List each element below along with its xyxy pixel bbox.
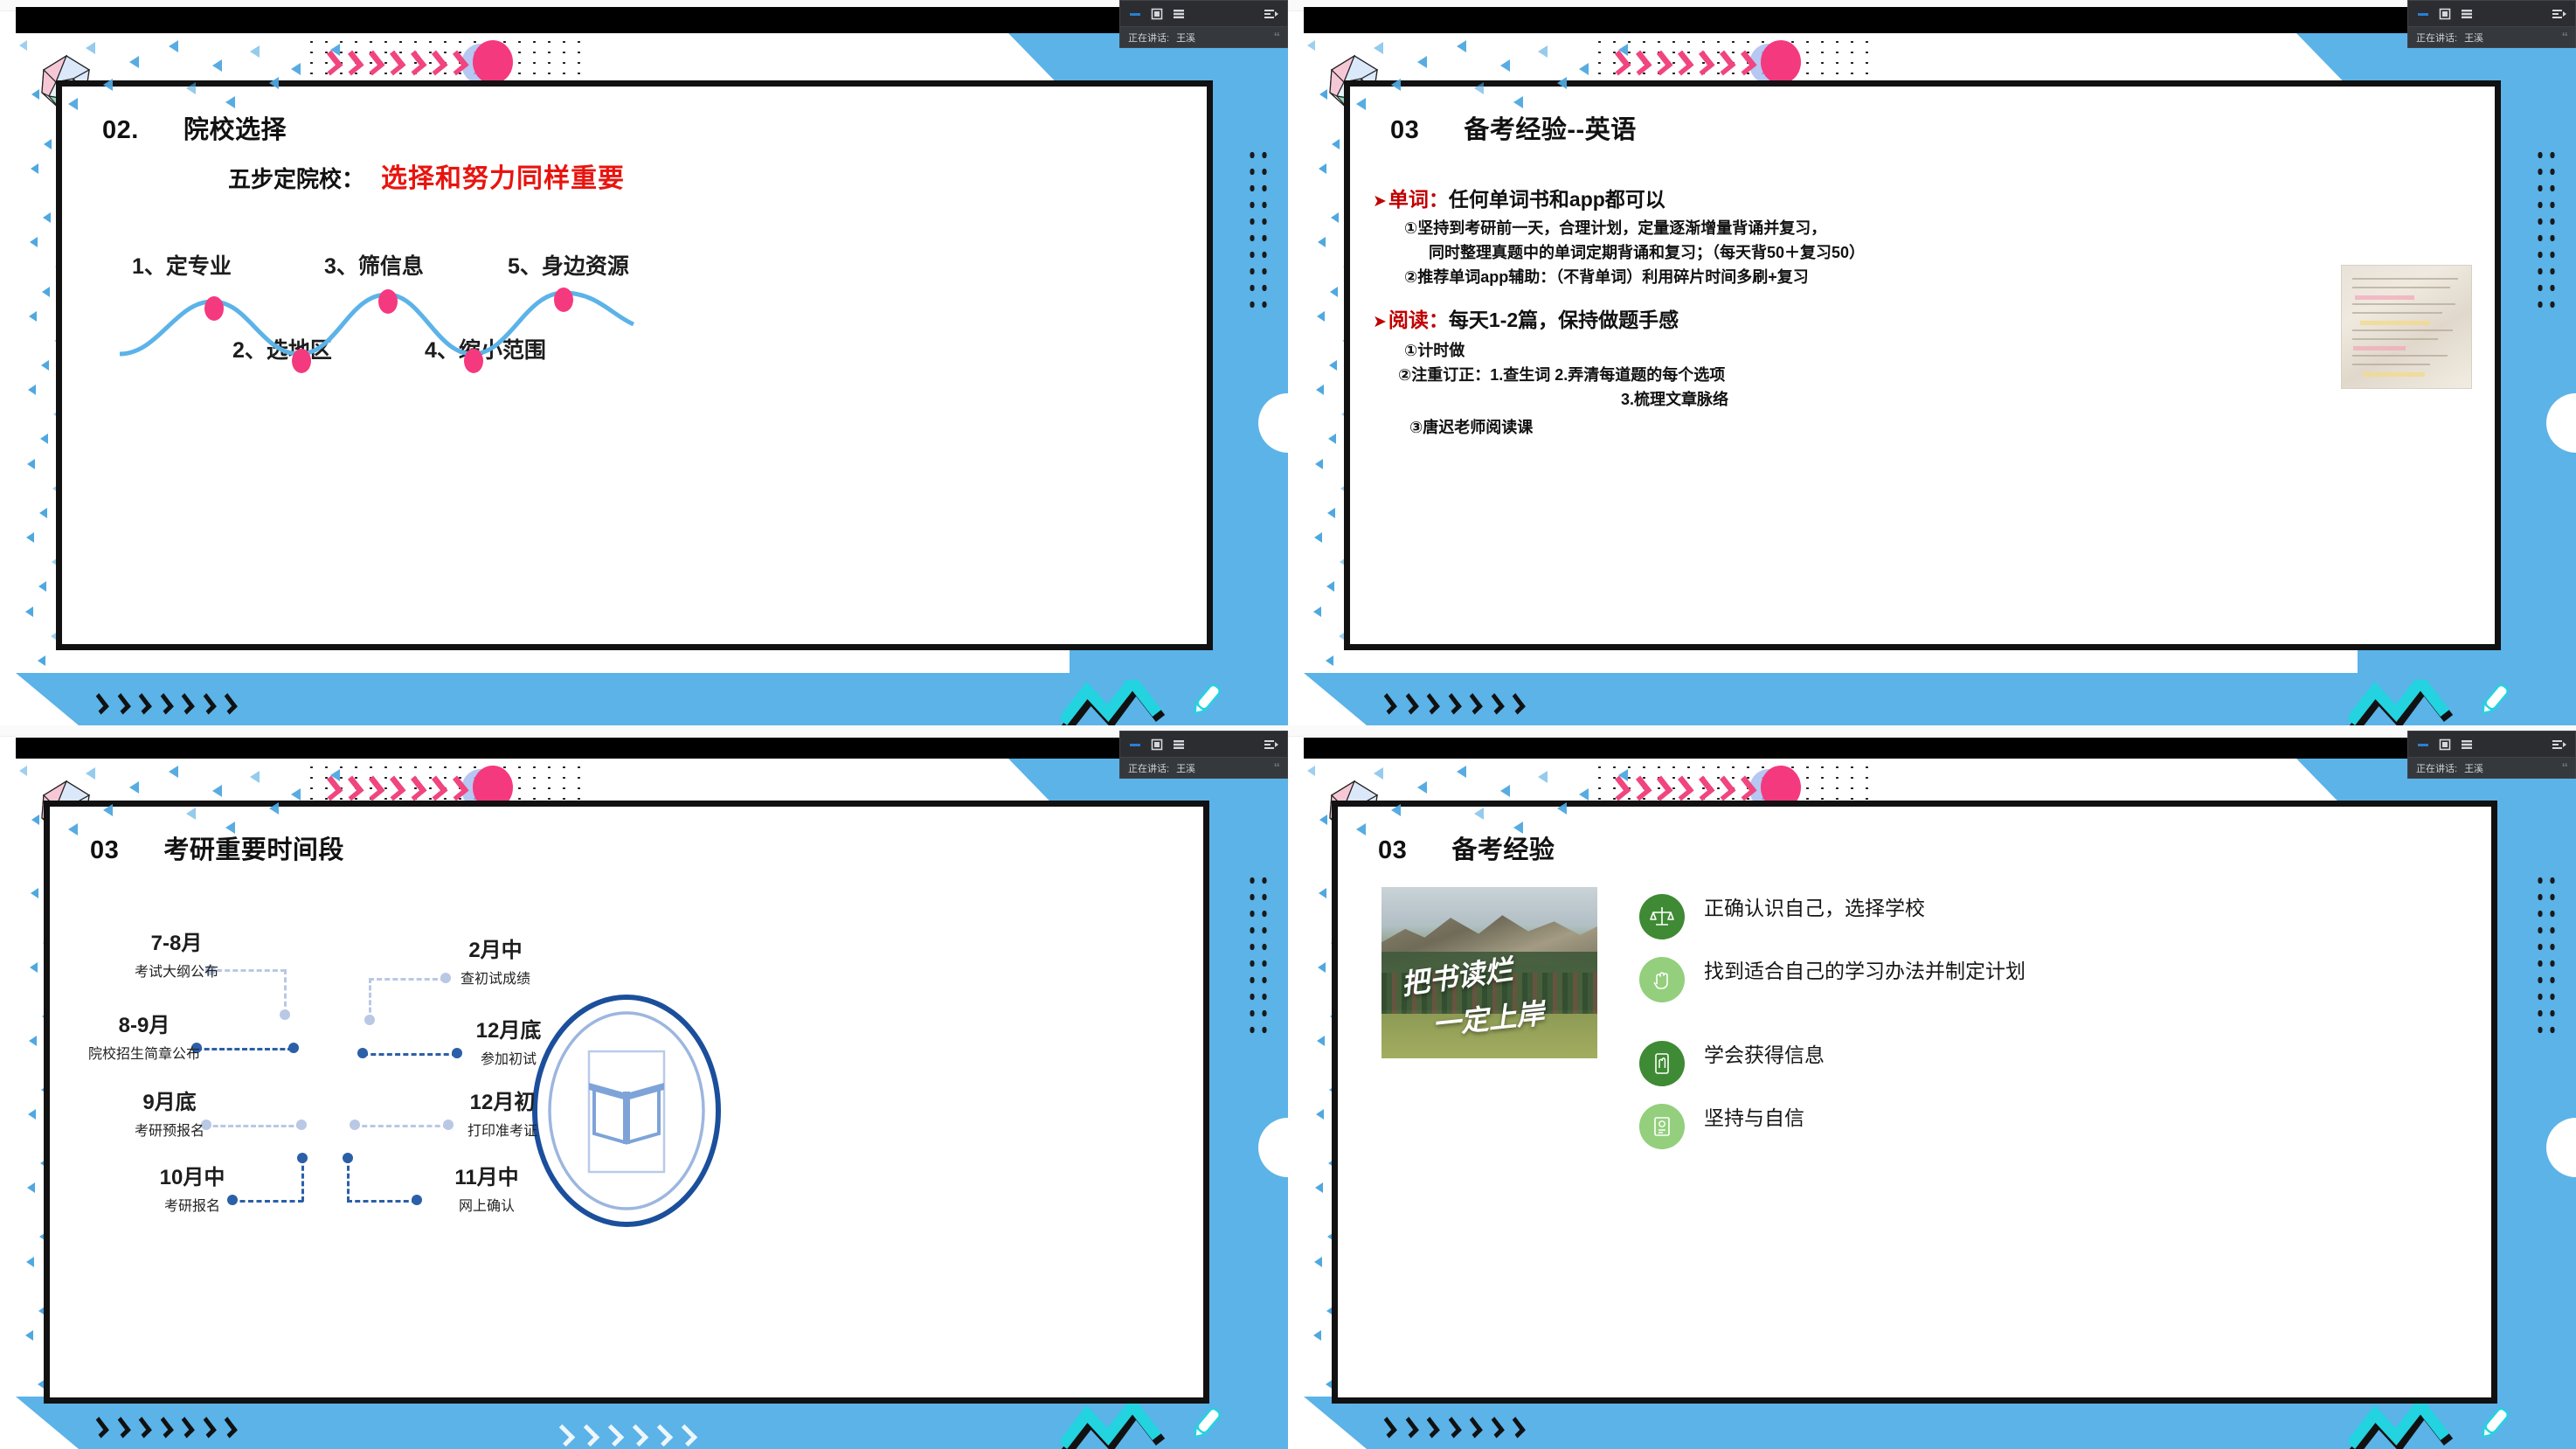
deco-triangle — [39, 508, 47, 518]
deco-triangle — [1356, 823, 1366, 835]
knob-right-4-inner — [343, 1153, 353, 1163]
window-restore-icon[interactable] — [2438, 738, 2452, 752]
deco-dot-column — [2534, 147, 2557, 313]
arrow-bullet-icon: ➤ — [1373, 313, 1387, 331]
video-control-panel[interactable]: 正在讲话: 王溪 “ — [1119, 0, 1288, 48]
panel-collapse-icon[interactable] — [2552, 7, 2567, 21]
deco-triangle — [129, 781, 139, 794]
deco-bottom-chevrons — [1382, 1419, 1522, 1437]
deco-pencil — [1187, 680, 1227, 720]
deco-triangle — [1313, 1330, 1321, 1341]
deco-triangle — [1307, 40, 1315, 51]
section-1-line-2: 同时整理真题中的单词定期背诵和复习；（每天背50＋复习50） — [1429, 240, 1865, 263]
knob-left-4-inner — [297, 1153, 308, 1163]
deco-triangle — [1318, 962, 1326, 973]
video-control-panel[interactable]: 正在讲话: 王溪 “ — [2407, 731, 2576, 779]
slide-card: 03 备考经验 把书读烂 一定上岸 正确认识自己，选择学校 — [1332, 801, 2497, 1404]
motivation-photo: 把书读烂 一定上岸 — [1381, 887, 1597, 1058]
deco-triangle — [1319, 888, 1326, 898]
highlight-statement: 选择和努力同样重要 — [381, 156, 625, 195]
deco-triangle — [1417, 781, 1427, 794]
slide-number: 03 — [1378, 836, 1407, 864]
deco-triangle — [1538, 45, 1548, 58]
event-desc: 考研预报名 — [95, 1119, 244, 1140]
deco-triangle — [169, 766, 178, 778]
layout-list-icon[interactable] — [2460, 738, 2474, 752]
event-desc: 打印准考证 — [424, 1119, 581, 1140]
point-row-1: 正确认识自己，选择学校 — [1639, 894, 1925, 939]
deco-triangle — [19, 766, 27, 776]
deco-triangle — [27, 1182, 35, 1193]
slide-card: 03 考研重要时间段 — [44, 801, 1209, 1404]
speaking-label: 正在讲话: — [2416, 761, 2457, 775]
minimize-icon[interactable] — [2416, 7, 2430, 21]
slide-card: 02. 院校选择 五步定院校： 选择和努力同样重要 1、定专业 2、选地区 3、… — [56, 80, 1213, 650]
event-month: 9月底 — [95, 1092, 244, 1114]
slide-number: 03 — [1390, 116, 1419, 144]
deco-triangle — [30, 962, 38, 973]
quote-glyph: “ — [2562, 30, 2568, 45]
deco-bottom-chevrons — [94, 696, 234, 713]
deco-triangle — [1317, 1036, 1325, 1046]
deco-triangle — [1500, 785, 1510, 797]
deco-pencil — [2475, 1404, 2515, 1444]
deco-triangle — [1307, 766, 1315, 776]
slide-stage: 03 考研重要时间段 — [16, 759, 1288, 1449]
deco-triangle — [1330, 287, 1338, 297]
deco-triangle — [1391, 79, 1401, 91]
speaker-name: 王溪 — [2464, 761, 2483, 775]
speaker-name: 王溪 — [1176, 761, 1195, 775]
knob-right-2-outer — [357, 1048, 368, 1058]
five-step-subtitle: 五步定院校： — [228, 162, 364, 194]
deco-triangle — [330, 769, 340, 781]
quote-glyph: “ — [1274, 30, 1280, 45]
video-control-panel[interactable]: 正在讲话: 王溪 “ — [2407, 0, 2576, 48]
deco-pink-chevrons — [1611, 778, 1777, 797]
deco-triangle — [1538, 771, 1548, 783]
event-month: 12月底 — [430, 1020, 587, 1043]
deco-pink-chevrons — [323, 52, 489, 72]
deco-triangle — [1457, 40, 1466, 52]
deco-cyan-zigzag — [2349, 1404, 2454, 1449]
event-month: 8-9月 — [66, 1015, 223, 1037]
deco-triangle — [1457, 766, 1466, 778]
deco-triangle — [1332, 139, 1340, 149]
event-desc: 网上确认 — [408, 1194, 565, 1215]
connector-right-4-v — [347, 1158, 350, 1202]
deco-triangle — [186, 82, 196, 94]
deco-triangle — [1313, 607, 1321, 617]
deco-triangle — [1513, 822, 1523, 834]
video-tile-timeline[interactable]: 03 考研重要时间段 — [0, 725, 1288, 1449]
deco-triangle — [1314, 1257, 1322, 1267]
minimize-icon[interactable] — [2416, 738, 2430, 752]
wave-node-4 — [464, 349, 483, 373]
event-month: 10月中 — [118, 1167, 267, 1189]
section-1-head: 任何单词书和app都可以 — [1449, 188, 1665, 211]
section-2-key: 阅读 — [1388, 309, 1429, 331]
video-letterbox-top — [16, 7, 1288, 35]
event-month: 7-8月 — [102, 932, 251, 955]
deco-triangle — [1356, 98, 1366, 110]
deco-triangle — [1326, 655, 1333, 666]
deco-triangle — [1474, 808, 1484, 820]
arrow-bullet-icon: ➤ — [1373, 192, 1387, 211]
knob-left-1-inner — [280, 1009, 290, 1020]
point-text-1: 正确认识自己，选择学校 — [1704, 894, 1925, 923]
timeline-event-right-2: 12月底 参加初试 — [430, 1020, 587, 1068]
section-1-key: 单词 — [1388, 188, 1429, 211]
knob-right-3-outer — [350, 1120, 360, 1130]
deco-triangle — [1618, 769, 1628, 781]
deco-triangle — [40, 433, 48, 444]
speaker-name: 王溪 — [2464, 31, 2483, 45]
deco-triangle — [44, 139, 52, 149]
speaking-label: 正在讲话: — [1128, 761, 1169, 775]
slide-title-text: 备考经验--英语 — [1464, 116, 1636, 144]
event-desc: 考试大纲公布 — [102, 960, 251, 981]
deco-pink-chevrons — [1611, 52, 1777, 72]
deco-triangle — [1474, 82, 1484, 94]
slide-title-text: 院校选择 — [184, 116, 287, 144]
video-control-panel[interactable]: 正在讲话: 王溪 “ — [1119, 731, 1288, 779]
deco-triangle — [291, 788, 301, 801]
deco-triangle — [19, 40, 27, 51]
section-2-line-4: ③唐迟老师阅读课 — [1409, 415, 1533, 438]
deco-triangle — [1316, 385, 1324, 395]
knob-left-2-inner — [288, 1043, 299, 1053]
timeline-event-right-1: 2月中 查初试成绩 — [417, 939, 574, 988]
phone-hand-icon — [1639, 1041, 1685, 1086]
layout-list-icon[interactable] — [1172, 738, 1186, 752]
wave-node-5 — [554, 288, 573, 312]
speaker-name: 王溪 — [1176, 31, 1195, 45]
deco-triangle — [169, 40, 178, 52]
deco-triangle — [25, 1330, 33, 1341]
deco-triangle — [29, 311, 37, 322]
deco-triangle — [212, 785, 222, 797]
deco-triangle — [1316, 1109, 1324, 1120]
connector-right-4 — [347, 1200, 417, 1203]
deco-triangle — [1331, 212, 1339, 223]
deco-cyan-zigzag — [2349, 680, 2454, 725]
slide-stage: 02. 院校选择 五步定院校： 选择和努力同样重要 1、定专业 2、选地区 3、… — [16, 33, 1288, 725]
slide-title-text: 备考经验 — [1451, 836, 1555, 864]
deco-triangle — [25, 607, 33, 617]
event-month: 12月初 — [424, 1092, 581, 1114]
layout-list-icon[interactable] — [2460, 7, 2474, 21]
deco-triangle — [1315, 459, 1323, 469]
section-2-line-1: ①计时做 — [1404, 338, 1465, 361]
panel-collapse-icon[interactable] — [1264, 7, 1279, 21]
deco-triangle — [26, 532, 34, 543]
timeline-event-left-1: 7-8月 考试大纲公布 — [102, 932, 251, 981]
layout-list-icon[interactable] — [1172, 7, 1186, 21]
slide-stage: 03 备考经验--英语 ➤单词：任何单词书和app都可以 ①坚持到考研前一天，合… — [1304, 33, 2576, 725]
deco-triangle — [103, 79, 113, 91]
event-desc: 参加初试 — [430, 1047, 587, 1068]
english-paper-photo — [2341, 265, 2472, 389]
connector-right-1-v — [369, 978, 371, 1020]
deco-triangle — [29, 1036, 37, 1046]
deco-triangle — [1329, 360, 1337, 371]
event-month: 11月中 — [408, 1167, 565, 1189]
event-desc: 院校招生简章公布 — [66, 1042, 223, 1063]
deco-triangle — [250, 45, 260, 58]
deco-triangle — [225, 96, 235, 108]
knob-right-1-inner — [364, 1015, 375, 1025]
slide-card: 03 备考经验--英语 ➤单词：任何单词书和app都可以 ①坚持到考研前一天，合… — [1344, 80, 2501, 650]
deco-triangle — [41, 360, 49, 371]
slide-number: 02. — [102, 116, 139, 144]
speaking-status-bar: 正在讲话: 王溪 “ — [2408, 757, 2575, 778]
timeline-event-left-4: 10月中 考研报名 — [118, 1167, 267, 1215]
app-chrome-strip — [0, 725, 1288, 737]
timeline-event-right-4: 11月中 网上确认 — [408, 1167, 565, 1215]
panel-collapse-icon[interactable] — [2552, 738, 2567, 752]
deco-bottom-chevrons-white — [557, 1426, 732, 1446]
timeline-diagram: 7-8月 考试大纲公布 8-9月 院校招生简章公布 9月底 考研预报名 10月中… — [50, 807, 1203, 1397]
slide-title-1: 02. 院校选择 — [102, 109, 287, 146]
wave-node-2 — [292, 349, 311, 373]
window-restore-icon[interactable] — [1150, 7, 1164, 21]
wave-node-1 — [204, 296, 224, 321]
slide-title-4: 03 备考经验 — [1378, 829, 1555, 866]
video-tile-school-selection[interactable]: 02. 院校选择 五步定院校： 选择和努力同样重要 1、定专业 2、选地区 3、… — [0, 0, 1288, 725]
video-grid: 02. 院校选择 五步定院校： 选择和努力同样重要 1、定专业 2、选地区 3、… — [0, 0, 2576, 1449]
deco-triangle — [225, 822, 235, 834]
deco-triangle — [129, 56, 139, 68]
speaking-status-bar: 正在讲话: 王溪 “ — [1120, 26, 1287, 47]
deco-pink-chevrons — [323, 778, 489, 797]
speaking-status-bar: 正在讲话: 王溪 “ — [2408, 26, 2575, 47]
knob-left-3-inner — [296, 1120, 307, 1130]
video-letterbox-top — [1304, 7, 2576, 35]
deco-dot-column — [2534, 872, 2557, 1038]
deco-triangle — [186, 808, 196, 820]
event-desc: 查初试成绩 — [417, 967, 574, 988]
scales-icon — [1639, 894, 1685, 939]
event-desc: 考研报名 — [118, 1194, 267, 1215]
video-tile-prep-experience[interactable]: 03 备考经验 把书读烂 一定上岸 正确认识自己，选择学校 — [1288, 725, 2576, 1449]
section-1-heading: ➤单词：任何单词书和app都可以 — [1373, 183, 1665, 212]
point-row-3: 学会获得信息 — [1639, 1041, 1825, 1086]
deco-triangle — [330, 44, 340, 56]
open-book-icon — [589, 1083, 664, 1144]
deco-dot-column — [1246, 147, 1269, 313]
deco-triangle — [86, 42, 95, 54]
section-2-heading: ➤阅读：每天1-2篇，保持做题手感 — [1373, 303, 1679, 333]
deco-pencil — [2475, 680, 2515, 720]
app-chrome-strip — [1288, 725, 2576, 737]
deco-triangle — [1557, 802, 1567, 815]
speaking-label: 正在讲话: — [2416, 31, 2457, 45]
point-text-3: 学会获得信息 — [1704, 1041, 1825, 1070]
slide-stage: 03 备考经验 把书读烂 一定上岸 正确认识自己，选择学校 — [1304, 759, 2576, 1449]
deco-triangle — [1315, 1182, 1323, 1193]
deco-triangle — [1319, 163, 1326, 174]
section-2-line-2: ②注重订正：1.查生词 2.弄清每道题的每个选项 — [1398, 363, 1725, 385]
deco-triangle — [1579, 788, 1589, 801]
deco-triangle — [27, 459, 35, 469]
timeline-event-right-3: 12月初 打印准考证 — [424, 1092, 581, 1140]
minimize-icon[interactable] — [1128, 7, 1142, 21]
connector-left-4-v — [301, 1158, 304, 1202]
deco-triangle — [68, 98, 78, 110]
deco-triangle — [1317, 311, 1325, 322]
point-text-2: 找到适合自己的学习办法并制定计划 — [1704, 957, 2025, 986]
deco-triangle — [38, 655, 45, 666]
deco-cyan-zigzag — [1061, 680, 1166, 725]
deco-dot-column — [1246, 872, 1269, 1038]
event-month: 2月中 — [417, 939, 574, 962]
deco-bottom-chevrons — [94, 1419, 234, 1437]
deco-triangle — [31, 163, 38, 174]
section-1-line-3: ②推荐单词app辅助：（不背单词）利用碎片时间多刷+复习 — [1404, 265, 1809, 288]
deco-triangle — [28, 385, 36, 395]
slide-title-2: 03 备考经验--英语 — [1390, 109, 1637, 146]
deco-triangle — [86, 767, 95, 780]
gesture-icon — [1639, 957, 1685, 1002]
deco-bottom-chevrons — [1382, 696, 1522, 713]
deco-triangle — [30, 237, 38, 247]
speaking-status-bar: 正在讲话: 王溪 “ — [1120, 757, 1287, 778]
step-wave-line — [114, 270, 639, 366]
deco-triangle — [1374, 42, 1383, 54]
deco-triangle — [1318, 237, 1326, 247]
document-icon — [1639, 1104, 1685, 1149]
deco-triangle — [269, 802, 279, 815]
quote-glyph: “ — [2562, 760, 2568, 775]
deco-triangle — [1513, 96, 1523, 108]
deco-triangle — [38, 581, 46, 592]
deco-triangle — [1579, 63, 1589, 75]
deco-triangle — [28, 1109, 36, 1120]
deco-triangle — [26, 1257, 34, 1267]
section-2-head: 每天1-2篇，保持做题手感 — [1449, 309, 1679, 331]
deco-triangle — [269, 77, 279, 89]
deco-pencil — [1187, 1404, 1227, 1444]
deco-triangle — [1314, 532, 1322, 543]
panel-collapse-icon[interactable] — [1264, 738, 1279, 752]
timeline-event-left-2: 8-9月 院校招生简章公布 — [66, 1015, 223, 1063]
section-1-colon: ： — [1429, 188, 1449, 211]
section-2-line-3: 3.梳理文章脉络 — [1621, 387, 1728, 410]
quote-glyph: “ — [1274, 760, 1280, 775]
connector-left-1-v — [284, 969, 287, 1015]
deco-cyan-zigzag — [1061, 1404, 1166, 1449]
deco-triangle — [43, 212, 51, 223]
deco-triangle — [68, 823, 78, 835]
section-2-colon: ： — [1429, 309, 1449, 331]
deco-triangle — [1391, 804, 1401, 816]
deco-triangle — [1618, 44, 1628, 56]
video-tile-english-prep[interactable]: 03 备考经验--英语 ➤单词：任何单词书和app都可以 ①坚持到考研前一天，合… — [1288, 0, 2576, 725]
deco-triangle — [1374, 767, 1383, 780]
deco-triangle — [42, 287, 50, 297]
deco-triangle — [1500, 59, 1510, 72]
wave-node-3 — [378, 289, 398, 314]
deco-triangle — [1328, 433, 1336, 444]
deco-triangle — [1557, 77, 1567, 89]
timeline-event-left-3: 9月底 考研预报名 — [95, 1092, 244, 1140]
point-text-4: 坚持与自信 — [1704, 1104, 1804, 1133]
deco-triangle — [212, 59, 222, 72]
window-restore-icon[interactable] — [1150, 738, 1164, 752]
deco-triangle — [1417, 56, 1427, 68]
point-row-4: 坚持与自信 — [1639, 1104, 1804, 1149]
deco-triangle — [31, 888, 38, 898]
deco-triangle — [291, 63, 301, 75]
deco-triangle — [103, 804, 113, 816]
section-1-line-1: ①坚持到考研前一天，合理计划，定量逐渐增量背诵并复习， — [1404, 216, 1826, 239]
deco-triangle — [250, 771, 260, 783]
deco-triangle — [1326, 581, 1334, 592]
minimize-icon[interactable] — [1128, 738, 1142, 752]
window-restore-icon[interactable] — [2438, 7, 2452, 21]
point-row-2: 找到适合自己的学习办法并制定计划 — [1639, 957, 2025, 1002]
deco-triangle — [1327, 508, 1335, 518]
speaking-label: 正在讲话: — [1128, 31, 1169, 45]
